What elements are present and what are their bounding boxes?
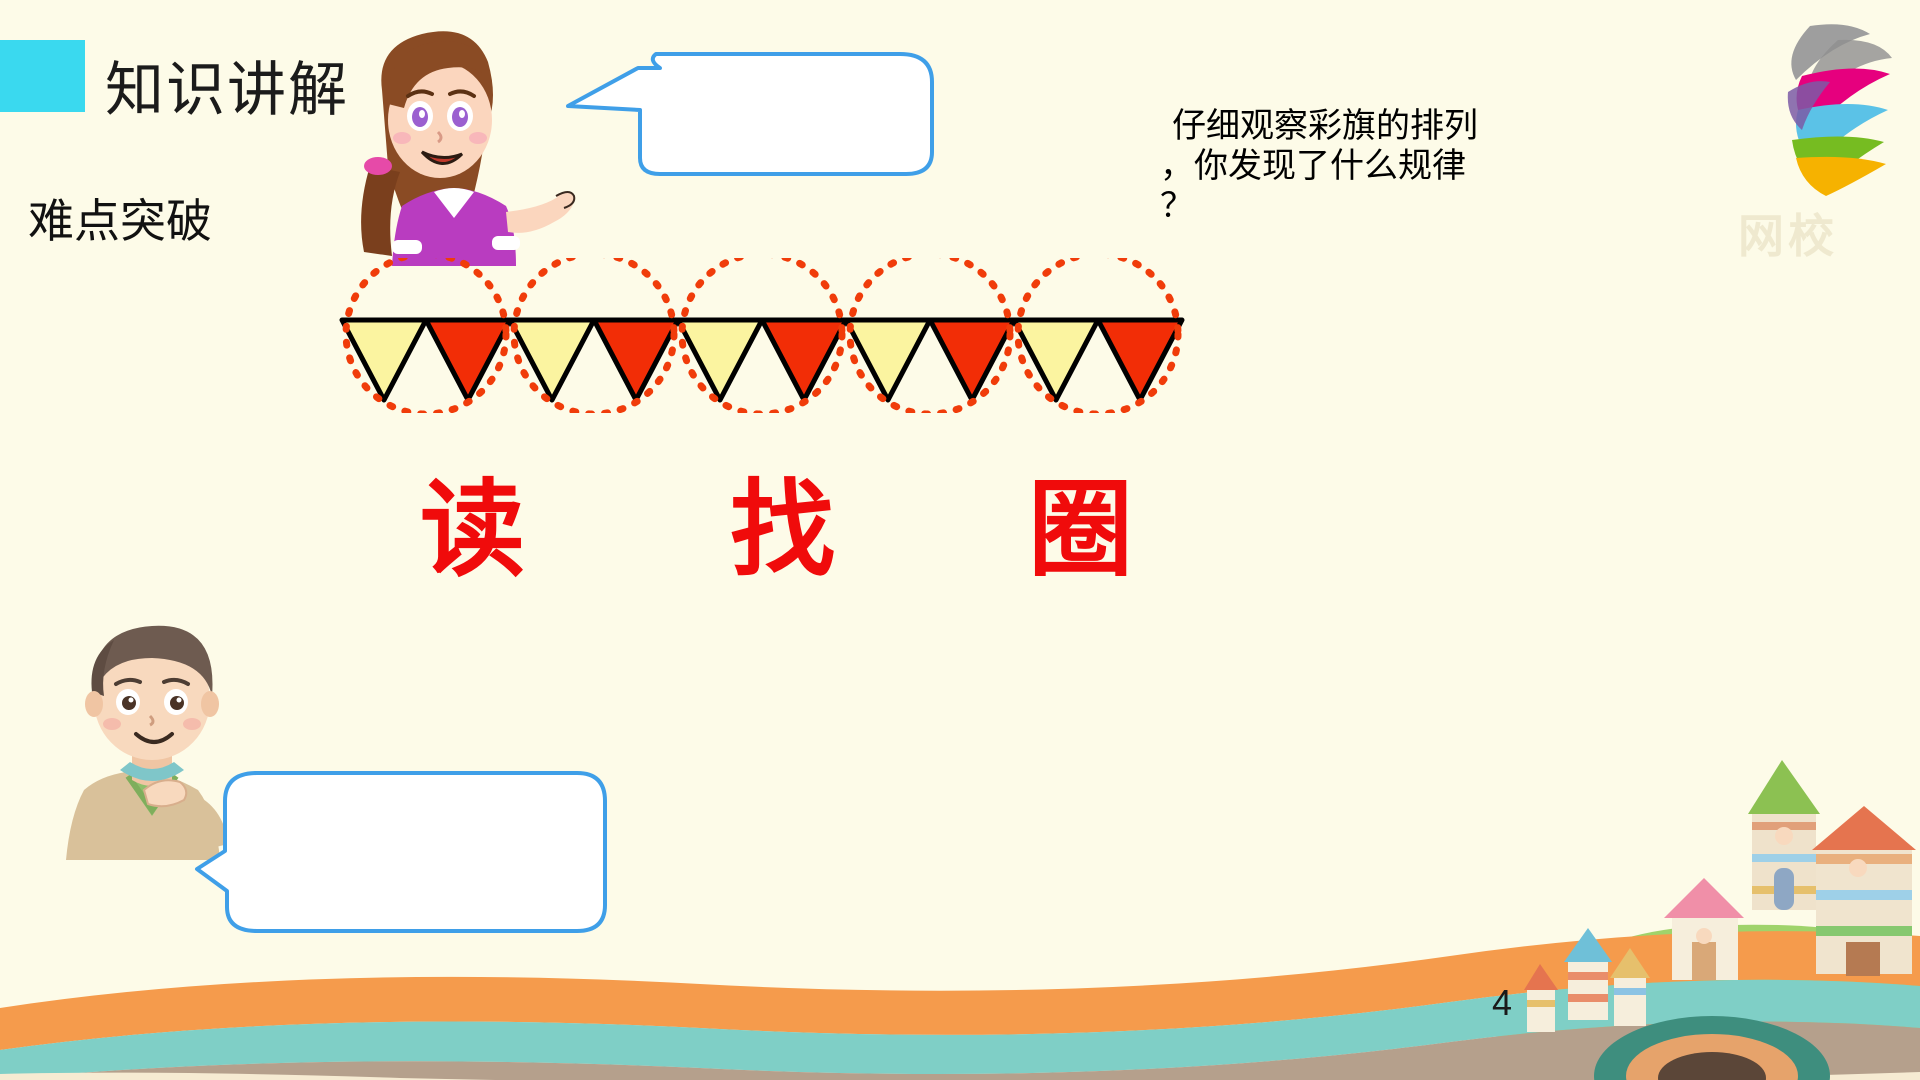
flag-triangle-yellow: [342, 320, 426, 400]
page-title: 知识讲解: [105, 42, 349, 127]
page-number: 4: [1492, 982, 1512, 1024]
multicolor-swoosh-logo: [1752, 18, 1902, 198]
step-character-find: 找: [730, 478, 835, 583]
step-character-read: 读: [420, 478, 525, 583]
flag-triangle-red: [930, 320, 1014, 400]
flag-triangle-red: [426, 320, 510, 400]
section-badge: [0, 40, 85, 112]
castle-body: [1812, 806, 1916, 976]
slide-canvas: 知识讲解 难点突破 网校: [0, 0, 1920, 1080]
page-subtitle: 难点突破: [28, 185, 212, 251]
flag-triangle-yellow: [678, 320, 762, 400]
flag-triangle-yellow: [1014, 320, 1098, 400]
teacher-speech-text: 仔细观察彩旗的排列，你发现了什么规律？: [1160, 106, 1490, 226]
flag-triangle-yellow: [510, 320, 594, 400]
speech-bubble-shape: [560, 48, 960, 208]
bottom-landscape-decoration: [0, 750, 1920, 1080]
bubble-line-1: 仔细观察彩旗的排列: [1172, 107, 1478, 145]
bubble-line-2: ，你发现了什么规律: [1160, 147, 1466, 185]
flag-row: [342, 320, 1182, 400]
watermark-text: 网校: [1738, 200, 1838, 266]
bubble-line-3: ？: [1160, 187, 1194, 225]
flag-triangle-red: [1098, 320, 1182, 400]
flag-triangle-yellow: [846, 320, 930, 400]
step-character-circle: 圈: [1028, 478, 1133, 583]
teacher-speech-bubble: 仔细观察彩旗的排列，你发现了什么规律？: [560, 48, 960, 208]
flag-triangle-red: [594, 320, 678, 400]
teacher-character: [330, 16, 580, 266]
flag-pattern-diagram: [330, 258, 1190, 413]
flag-triangle-red: [762, 320, 846, 400]
